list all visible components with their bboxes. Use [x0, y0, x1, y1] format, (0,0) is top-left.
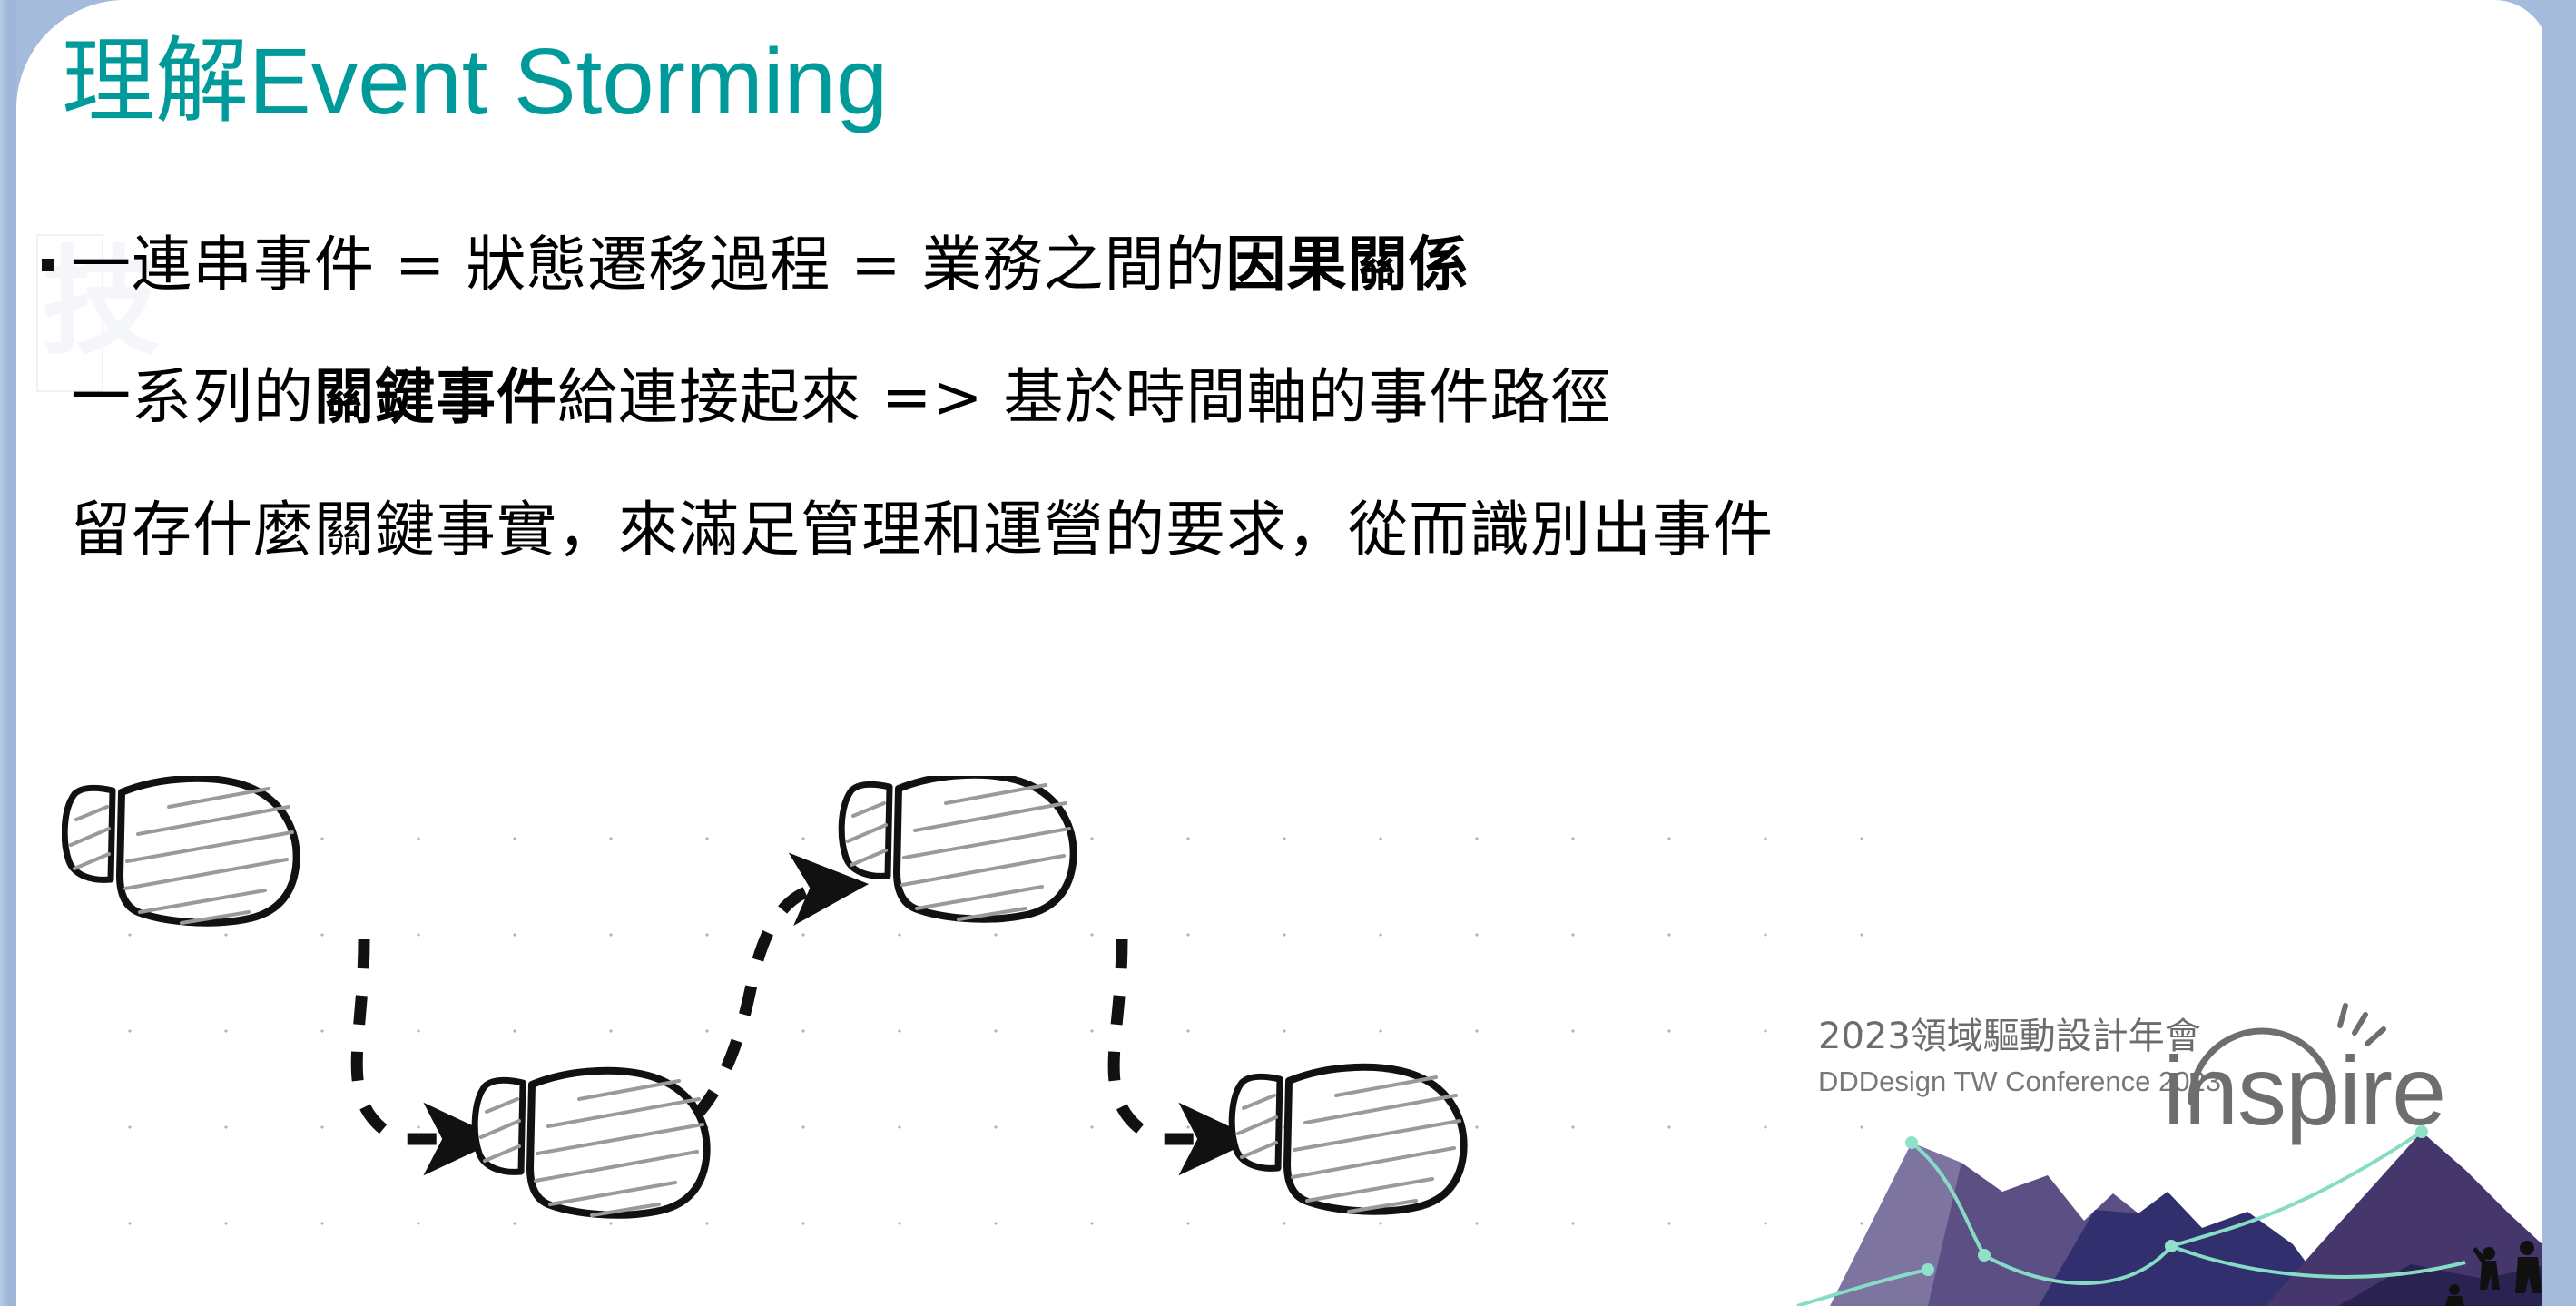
sticky-note-1 [64, 779, 296, 923]
bullet-2-segment-lead: 一系列的 [71, 362, 314, 432]
sticky-note-4 [1232, 1067, 1463, 1212]
arrow-3 [1114, 939, 1216, 1139]
right-frame-stripe [2542, 0, 2576, 1306]
bullet-item-1: 一連串事件 = 狀態遷移過程 = 業務之間的因果關係 [71, 231, 2340, 299]
slide-root: 技 理解Event Storming 一連串事件 = 狀態遷移過程 = 業務之間… [0, 0, 2576, 1306]
bullet-item-2: 一系列的關鍵事件給連接起來 => 基於時間軸的事件路徑 [71, 364, 2340, 431]
network-node-5 [1922, 1263, 1934, 1276]
bullet-1-segment-bold: 因果關係 [1226, 230, 1470, 299]
bullet-item-3: 留存什麼關鍵事實，來滿足管理和運營的要求，從而識別出事件 [71, 496, 2340, 564]
mountain-illustration-svg [1775, 1075, 2549, 1306]
page-title: 理解Event Storming [62, 31, 888, 133]
network-node-4 [2415, 1125, 2428, 1138]
slide-content-panel: 技 理解Event Storming 一連串事件 = 狀態遷移過程 = 業務之間… [16, 0, 2549, 1306]
network-node-3 [2165, 1240, 2178, 1252]
event-flow-diagram [62, 776, 1932, 1302]
network-node-2 [1978, 1249, 1991, 1262]
sticky-note-flow-svg [62, 776, 1932, 1302]
sticky-note-2 [475, 1071, 706, 1215]
network-node-1 [1905, 1136, 1918, 1149]
bullet-2-segment-bold: 關鍵事件 [314, 362, 557, 432]
sticky-note-3 [841, 776, 1073, 919]
arrow-1 [357, 939, 461, 1139]
bullet-1-segment-plain: 一連串事件 = 狀態遷移過程 = 業務之間的 [71, 230, 1226, 299]
left-frame-stripe [0, 0, 16, 1306]
page-title-cjk: 理解 [62, 27, 249, 136]
mountain-network-artwork [1775, 1075, 2549, 1306]
bullet-list: 一連串事件 = 狀態遷移過程 = 業務之間的因果關係 一系列的關鍵事件給連接起來… [71, 231, 2340, 564]
bullet-3-segment-plain: 留存什麼關鍵事實，來滿足管理和運營的要求，從而識別出事件 [71, 495, 1774, 565]
page-title-latin: Event Storming [249, 29, 888, 133]
bullet-2-segment-tail: 給連接起來 => 基於時間軸的事件路徑 [557, 362, 1612, 432]
bullet-marker-icon [42, 259, 54, 271]
